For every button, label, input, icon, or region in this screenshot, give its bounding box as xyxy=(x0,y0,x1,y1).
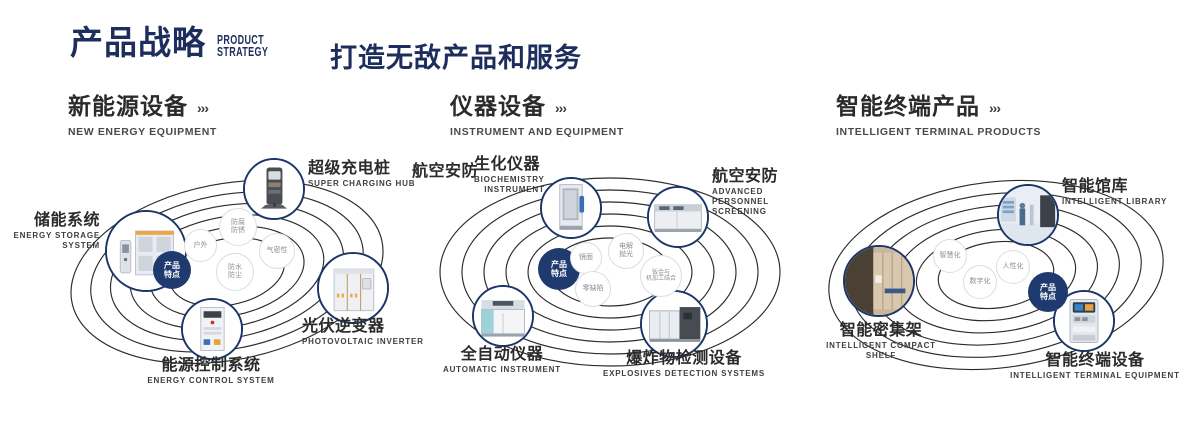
section-title-cn: 智能终端产品 xyxy=(836,96,980,119)
charging-pile-icon xyxy=(245,160,303,218)
core-line2: 特点 xyxy=(551,269,567,278)
page-slogan: 打造无敌产品和服务 xyxy=(330,36,582,75)
label-cn: 生化仪器 xyxy=(474,156,545,173)
label-en: PHOTOVOLTAIC INVERTER xyxy=(302,337,424,347)
label-explosives-detection-systems: 爆炸物检测设备 EXPLOSIVES DETECTION SYSTEMS xyxy=(594,350,774,379)
feature-text: 防腐 防锈 xyxy=(231,219,245,234)
label-en: INTELLIGENT LIBRARY xyxy=(1062,197,1167,207)
label-advanced-personnel-screening: 航空安防 ADVANCED PERSONNEL SCREENING xyxy=(712,168,812,217)
label-automatic-instrument: 全自动仪器 EXPLOSIVES DETECTION SYSTEMS AUTOM… xyxy=(422,346,582,375)
feature-bubble-digital: 数字化 xyxy=(963,265,997,299)
label-intelligent-terminal-equipment: 智能终端设备 INTELLIGENT TERMINAL EQUIPMENT xyxy=(1000,352,1190,381)
label-cn: 智能终端设备 xyxy=(1000,352,1190,369)
control-cabinet-icon xyxy=(183,300,241,358)
feature-text: 镜面 xyxy=(579,254,593,262)
feature-text: 气密性 xyxy=(267,247,288,255)
biochemistry-scanner-icon xyxy=(542,179,600,237)
section-title-en: NEW ENERGY EQUIPMENT xyxy=(68,126,217,138)
label-cn: 爆炸物检测设备 xyxy=(594,350,774,367)
node-photovoltaic-inverter[interactable] xyxy=(317,252,389,324)
core-line2: 特点 xyxy=(1040,292,1056,301)
feature-bubble-sheetmetal-machining: 钣金与 机加工结合 xyxy=(640,255,682,297)
label-biochemistry-instrument: 生化仪器 BIOCHEMISTRY INSTRUMENT xyxy=(474,156,545,195)
label-en-automatic: AUTOMATIC INSTRUMENT xyxy=(422,365,582,375)
personnel-screening-machine-icon xyxy=(649,188,707,246)
label-en: INTELLIGENT TERMINAL EQUIPMENT xyxy=(1000,371,1190,381)
label-energy-storage-system: 储能系统 ENERGY STORAGE SYSTEM xyxy=(4,212,100,251)
section-title-en: INSTRUMENT AND EQUIPMENT xyxy=(450,126,624,138)
label-energy-control-system: 能源控制系统 ENERGY CONTROL SYSTEM xyxy=(91,357,331,386)
page-title-en-line2: STRATEGY xyxy=(217,47,268,59)
page-title-en: PRODUCT STRATEGY xyxy=(217,35,268,58)
feature-core-product-traits: 产品 特点 xyxy=(153,251,191,289)
label-super-charging-hub: 超级充电桩 SUPER CHARGING HUB xyxy=(308,160,415,189)
feature-bubble-waterproof: 防水 防尘 xyxy=(216,253,254,291)
core-line1: 产品 xyxy=(1040,283,1056,292)
core-line2: 特点 xyxy=(164,270,180,279)
pv-inverter-cabinet-icon xyxy=(319,254,387,322)
feature-text: 智慧化 xyxy=(940,252,961,260)
core-line1: 产品 xyxy=(164,261,180,270)
section-title-en: INTELLIGENT TERMINAL PRODUCTS xyxy=(836,126,1041,138)
feature-bubble-zero-defect: 零缺陷 xyxy=(575,271,611,307)
section-title-cn: 仪器设备 xyxy=(450,96,546,119)
feature-core-product-traits: 产品 特点 xyxy=(1028,272,1068,312)
label-en: BIOCHEMISTRY INSTRUMENT xyxy=(474,175,545,195)
label-cn: 航空安防 xyxy=(712,168,812,185)
label-intelligent-library: 智能馆库 INTELLIGENT LIBRARY xyxy=(1062,178,1167,207)
node-advanced-personnel-screening[interactable] xyxy=(647,186,709,248)
section-title-instrument: 仪器设备 ››› INSTRUMENT AND EQUIPMENT xyxy=(450,96,624,138)
chevron-right-icon: ››› xyxy=(197,100,208,116)
feature-bubble-airtight: 气密性 xyxy=(259,233,295,269)
label-cn: 能源控制系统 xyxy=(91,357,331,374)
feature-text: 防水 防尘 xyxy=(228,264,242,279)
feature-text: 数字化 xyxy=(970,278,991,286)
label-cn: 智能密集架 xyxy=(796,322,966,339)
section-title-cn: 新能源设备 xyxy=(68,96,188,119)
label-en: EXPLOSIVES DETECTION SYSTEMS xyxy=(594,369,774,379)
label-cn: 全自动仪器 xyxy=(422,346,582,363)
label-aviation-security-left: 航空安防 xyxy=(412,163,478,180)
cluster-new-energy-equipment: 储能系统 ENERGY STORAGE SYSTEM 超级充电桩 SUPER C… xyxy=(30,150,430,400)
chevron-right-icon: ››› xyxy=(555,100,566,116)
automatic-instrument-icon xyxy=(474,287,532,345)
label-en: ENERGY STORAGE SYSTEM xyxy=(4,231,100,251)
label-en: INTELLIGENT COMPACT SHELF xyxy=(796,341,966,361)
compact-shelving-icon xyxy=(845,247,913,315)
smart-library-room-icon xyxy=(999,186,1057,244)
label-cn: 智能馆库 xyxy=(1062,178,1167,195)
feature-text: 户外 xyxy=(194,242,208,250)
feature-bubble-electropolishing: 电解 抛光 xyxy=(608,233,644,269)
feature-bubble-mirror-finish: 镜面 xyxy=(570,242,602,274)
node-biochemistry-instrument[interactable] xyxy=(540,177,602,239)
feature-text: 人性化 xyxy=(1003,263,1024,271)
label-cn: 航空安防 xyxy=(412,163,478,180)
feature-text: 零缺陷 xyxy=(583,285,604,293)
section-title-intelligent-terminal: 智能终端产品 ››› INTELLIGENT TERMINAL PRODUCTS xyxy=(836,96,1041,138)
node-intelligent-compact-shelf[interactable] xyxy=(843,245,915,317)
poster-canvas: 产品战略 PRODUCT STRATEGY 打造无敌产品和服务 新能源设备 ››… xyxy=(0,0,1200,422)
label-cn: 储能系统 xyxy=(4,212,100,229)
feature-text: 钣金与 机加工结合 xyxy=(646,270,676,283)
label-cn: 光伏逆变器 xyxy=(302,318,424,335)
feature-bubble-smart: 智慧化 xyxy=(933,239,967,273)
label-intelligent-compact-shelf: 智能密集架 INTELLIGENT COMPACT SHELF xyxy=(796,322,966,361)
cluster-intelligent-terminal-products: 智能馆库 INTELLIGENT LIBRARY 智能密集架 INTELLIGE… xyxy=(800,150,1200,400)
explosives-detector-icon xyxy=(642,292,706,356)
chevron-right-icon: ››› xyxy=(989,100,1000,116)
node-super-charging-hub[interactable] xyxy=(243,158,305,220)
feature-bubble-outdoor: 户外 xyxy=(184,229,217,262)
node-energy-control-system[interactable] xyxy=(181,298,243,360)
node-intelligent-library[interactable] xyxy=(997,184,1059,246)
feature-text: 电解 抛光 xyxy=(619,243,633,258)
page-title: 产品战略 xyxy=(70,26,206,59)
feature-bubble-humanized: 人性化 xyxy=(996,250,1030,284)
label-en: ENERGY CONTROL SYSTEM xyxy=(91,376,331,386)
label-cn: 超级充电桩 xyxy=(308,160,415,177)
node-automatic-instrument[interactable] xyxy=(472,285,534,347)
label-en: SUPER CHARGING HUB xyxy=(308,179,415,189)
section-title-new-energy: 新能源设备 ››› NEW ENERGY EQUIPMENT xyxy=(68,96,217,138)
cluster-instrument-and-equipment: 航空安防 生化仪器 BIOCHEMISTRY INSTRUMENT xyxy=(412,150,812,400)
feature-bubble-anticorrosion: 防腐 防锈 xyxy=(219,208,257,246)
core-line1: 产品 xyxy=(551,260,567,269)
label-en: ADVANCED PERSONNEL SCREENING xyxy=(712,187,812,217)
poster-header: 产品战略 PRODUCT STRATEGY xyxy=(70,26,288,59)
label-photovoltaic-inverter: 光伏逆变器 PHOTOVOLTAIC INVERTER xyxy=(302,318,424,347)
